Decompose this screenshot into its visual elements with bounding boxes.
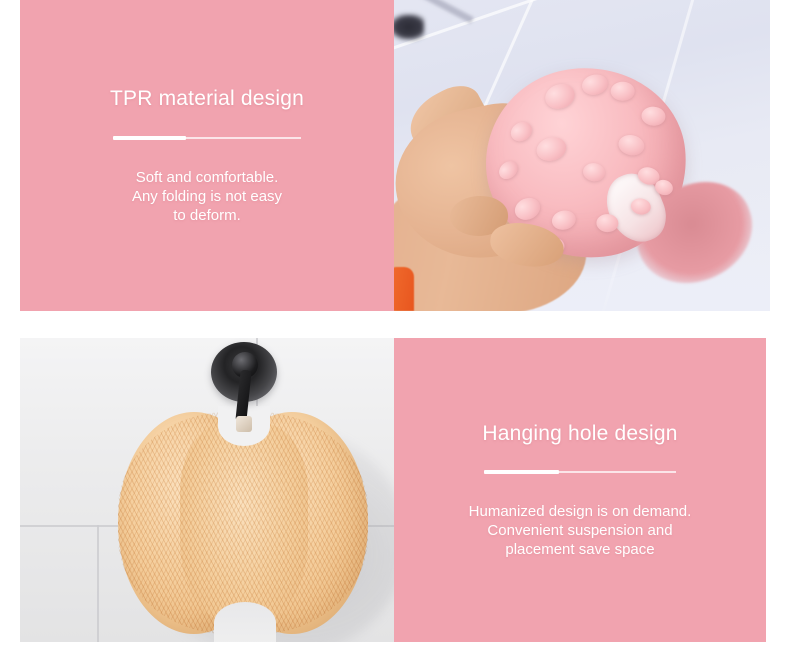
panel-tpr-body: Soft and comfortable. Any folding is not… (132, 168, 282, 225)
panel-tpr-divider (113, 134, 301, 142)
brush-nub-layer (477, 58, 676, 79)
mat-bottom-notch (214, 602, 276, 642)
divider-segment-strong (484, 470, 559, 474)
brush-nub (542, 80, 578, 113)
feature-row-hanging: Hanging hole design Humanized design is … (20, 338, 770, 642)
brush-nub (511, 194, 543, 224)
divider-segment-light (186, 137, 301, 139)
hook-tip (236, 416, 252, 432)
panel-tpr-title: TPR material design (110, 86, 304, 111)
panel-tpr-content: TPR material design Soft and comfortable… (20, 86, 394, 224)
divider-segment-strong (113, 136, 186, 140)
brush-nub (582, 162, 606, 183)
panel-hanging-body: Humanized design is on demand. Convenien… (469, 502, 692, 559)
apple-shaped-bath-mat (118, 412, 368, 634)
panel-hanging-hole: Hanging hole design Humanized design is … (394, 338, 766, 642)
panel-tpr-material: TPR material design Soft and comfortable… (20, 0, 394, 311)
brush-nub (496, 158, 522, 183)
panel-hanging-title: Hanging hole design (482, 421, 677, 446)
brush-nub (641, 106, 666, 127)
mat-center (180, 424, 308, 624)
orange-sleeve (394, 267, 414, 311)
brush-nub (580, 72, 610, 98)
photo-hand-squeezing-brush (394, 0, 770, 311)
brush-nub (550, 208, 577, 232)
brush-nub (596, 214, 619, 233)
product-feature-page: TPR material design Soft and comfortable… (0, 0, 790, 658)
feature-row-tpr: TPR material design Soft and comfortable… (20, 0, 770, 311)
divider-segment-light (559, 471, 676, 473)
photo-mat-on-hook (20, 338, 394, 642)
brush-nub (534, 134, 569, 164)
brush-nub (507, 118, 535, 145)
brush-nub (611, 82, 635, 101)
background-object-blur (394, 14, 424, 40)
wall-tile-grout (97, 525, 99, 642)
panel-hanging-divider (484, 468, 676, 476)
brush-nub (617, 133, 647, 158)
panel-hanging-content: Hanging hole design Humanized design is … (394, 421, 766, 559)
